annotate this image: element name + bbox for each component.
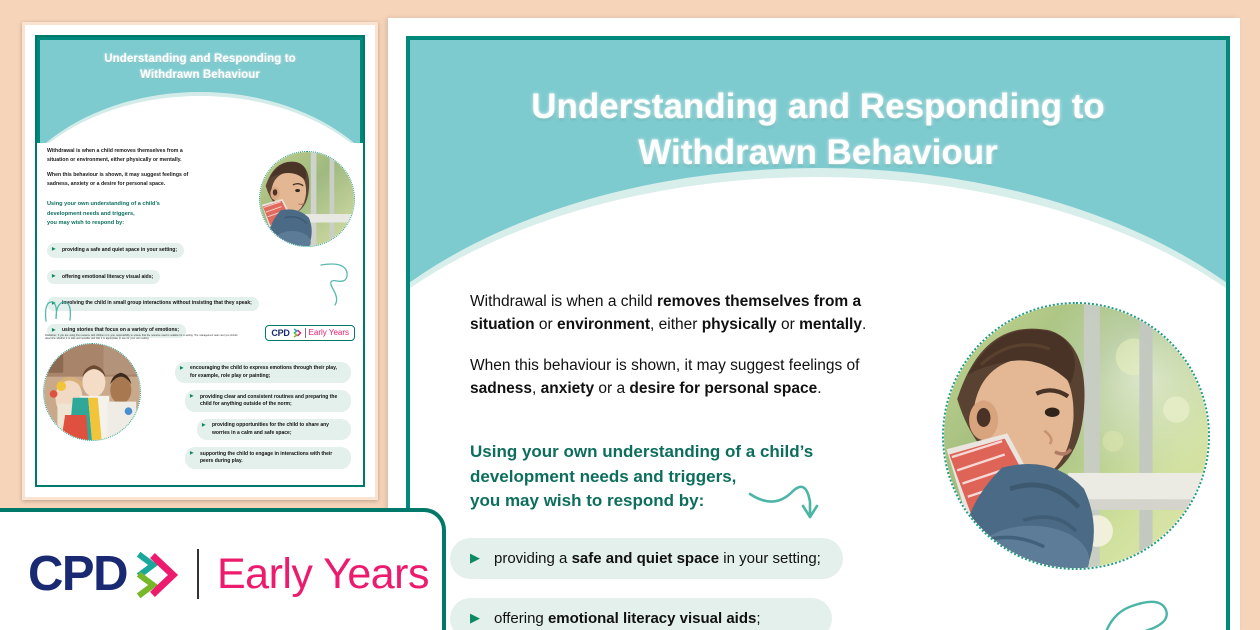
page-title-line1: Understanding and Responding to	[531, 87, 1105, 126]
p2-bold-3: desire for personal space	[629, 380, 817, 397]
p1-text-1: Withdrawal is when a child	[470, 293, 657, 310]
poster-thumbnail-preview[interactable]: Understanding and Responding to Withdraw…	[22, 22, 378, 500]
list-item: providing a safe and quiet space in your…	[47, 243, 184, 257]
squiggle-decoration-icon	[319, 259, 353, 307]
p1-text-3: , either	[650, 316, 702, 333]
thumbnail-wave-divider	[37, 92, 363, 143]
poster-header: Understanding and Responding to Withdraw…	[410, 40, 1226, 290]
logo-divider	[305, 328, 306, 338]
page-title: Understanding and Responding to Withdraw…	[410, 40, 1226, 176]
prompt-heading: Using your own understanding of a child’…	[470, 440, 830, 514]
thumbnail-title-line1: Understanding and Responding to	[104, 53, 296, 65]
p2-text-2: ,	[532, 380, 541, 397]
list-item: involving the child in small group inter…	[47, 297, 259, 311]
list-item: providing opportunities for the child to…	[197, 419, 351, 441]
paragraph-1: Withdrawal is when a child removes thems…	[470, 290, 870, 337]
p1-text-2: or	[535, 316, 557, 333]
thumbnail-page: Understanding and Responding to Withdraw…	[35, 35, 365, 487]
poster-main-view: Understanding and Responding to Withdraw…	[388, 18, 1240, 630]
photo-withdrawn-boy	[942, 302, 1210, 570]
p1-bold-3: physically	[702, 316, 777, 333]
thumbnail-title: Understanding and Responding to Withdraw…	[40, 40, 360, 83]
list-item: providing clear and consistent routines …	[185, 390, 351, 412]
list-item: supporting the child to engage in intera…	[185, 447, 351, 469]
prompt-heading-line3: you may wish to respond by:	[470, 491, 704, 510]
chevron-logo-icon	[137, 548, 181, 600]
bullet-2-bold: emotional literacy visual aids	[548, 610, 756, 627]
p1-bold-4: mentally	[799, 316, 862, 333]
bullet-2-text-1: offering	[494, 610, 548, 627]
poster-body: Withdrawal is when a child removes thems…	[410, 290, 1226, 630]
p2-text-4: .	[817, 380, 821, 397]
logo-early-years-text: Early Years	[217, 550, 429, 599]
list-item: encouraging the child to express emotion…	[175, 362, 351, 384]
thumbnail-photo-withdrawn-boy	[259, 151, 355, 247]
poster-main-border: Understanding and Responding to Withdraw…	[406, 36, 1230, 630]
p2-text-3: or a	[594, 380, 629, 397]
thumbnail-logo-early-years: Early Years	[309, 328, 349, 337]
thumbnail-paragraph-2: When this behaviour is shown, it may sug…	[47, 171, 197, 189]
bullet-1-text-1: providing a	[494, 550, 572, 567]
curved-arrow-icon	[748, 472, 826, 524]
thumbnail-footer: Disclaimer: If you are using this resour…	[45, 325, 355, 341]
list-item: offering emotional literacy visual aids;	[450, 598, 832, 630]
paragraph-2: When this behaviour is shown, it may sug…	[470, 354, 870, 401]
chevron-logo-icon	[293, 328, 302, 338]
bullet-2-text-2: ;	[756, 610, 760, 627]
p2-text-1: When this behaviour is shown, it may sug…	[470, 357, 859, 374]
list-item: offering emotional literacy visual aids;	[47, 270, 160, 284]
thumbnail-photo-children-playing	[43, 343, 141, 441]
thumbnail-bullet-list-right: encouraging the child to express emotion…	[171, 362, 351, 476]
page-title-line2: Withdrawn Behaviour	[638, 133, 997, 172]
bullet-list: providing a safe and quiet space in your…	[450, 538, 1186, 630]
disclaimer-text: Disclaimer: If you are using this resour…	[45, 334, 245, 341]
prompt-heading-line1: Using your own understanding of a child’…	[470, 442, 813, 461]
p2-bold-1: sadness	[470, 380, 532, 397]
bullet-1-text-2: in your setting;	[719, 550, 821, 567]
thumbnail-body: Withdrawal is when a child removes thems…	[37, 147, 363, 345]
squiggle-decoration-icon	[43, 293, 77, 323]
p1-text-4: or	[777, 316, 799, 333]
cpd-early-years-logo-bar[interactable]: CPD Early Years	[0, 508, 446, 630]
bullet-1-bold: safe and quiet space	[572, 550, 720, 567]
thumbnail-paragraph-1: Withdrawal is when a child removes thems…	[47, 147, 197, 165]
thumbnail-title-line2: Withdrawn Behaviour	[140, 69, 260, 81]
thumbnail-prompt-heading: Using your own understanding of a child’…	[47, 200, 197, 229]
p1-bold-2: environment	[557, 316, 650, 333]
wave-divider	[410, 168, 1226, 290]
thumbnail-logo-cpd: CPD	[271, 328, 289, 338]
squiggle-decoration-icon	[1098, 588, 1194, 630]
p2-bold-2: anxiety	[541, 380, 594, 397]
list-item: providing a safe and quiet space in your…	[450, 538, 843, 579]
prompt-heading-line2: development needs and triggers,	[470, 467, 736, 486]
thumbnail-header: Understanding and Responding to Withdraw…	[37, 37, 363, 143]
p1-text-5: .	[862, 316, 866, 333]
logo-divider	[197, 549, 199, 599]
logo-cpd-text: CPD	[28, 546, 127, 602]
thumbnail-logo: CPD Early Years	[265, 325, 355, 341]
